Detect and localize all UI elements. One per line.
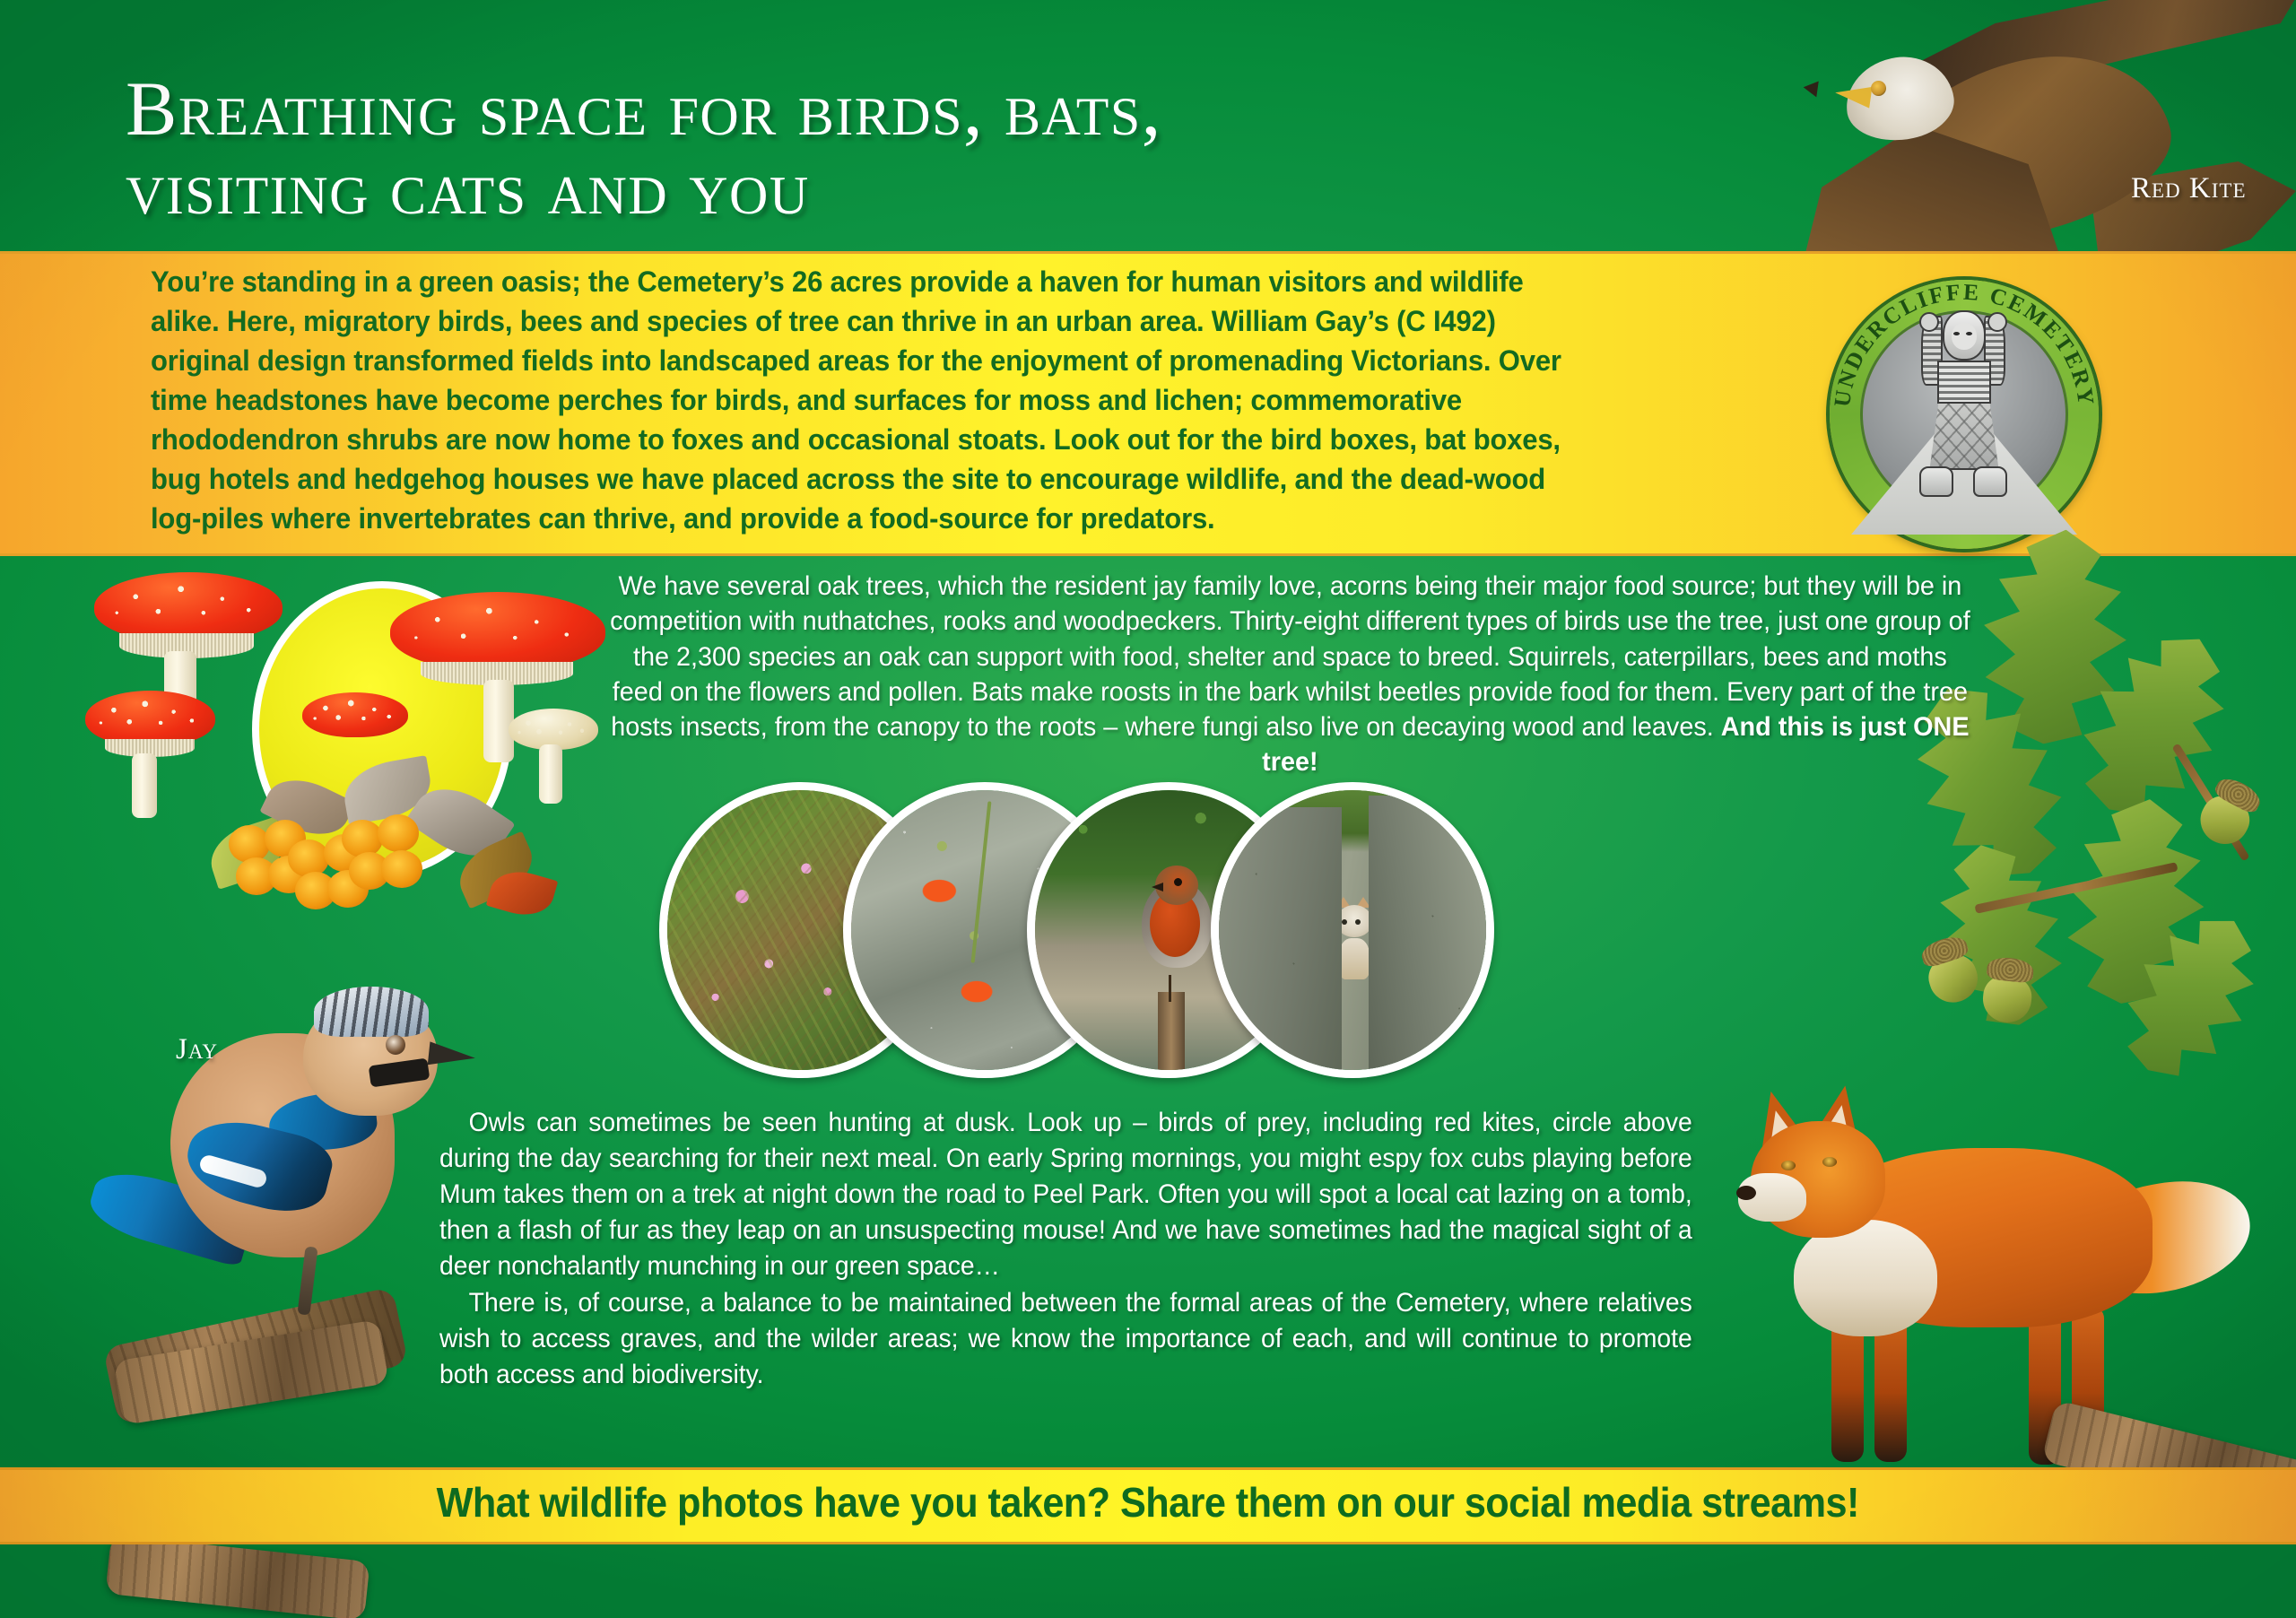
owls-paragraph-2: There is, of course, a balance to be mai… [439,1285,1692,1393]
title-line-2: visiting cats and you [126,149,1830,228]
oak-branch-illustration [1919,529,2296,1085]
fox-eye [1822,1157,1837,1167]
title-line-1: Breathing space for birds, bats, [126,65,1162,152]
fox-nose [1736,1186,1756,1200]
jay-illustration [90,951,484,1399]
red-kite-eye [1871,81,1886,96]
oak-tree-paragraph: We have several oak trees, which the res… [610,569,1970,780]
red-kite-beak [1834,82,1873,108]
jay-beak [428,1041,476,1069]
undercliffe-cemetery-logo: UNDERCLIFFE CEMETERY [1830,280,2099,549]
photo-gallery [659,782,1816,1078]
acorn-icon [1980,955,2035,1024]
page-title: Breathing space for birds, bats, visitin… [126,70,1830,227]
fly-agaric-fungi-illustration [94,556,632,933]
call-to-action-text: What wildlife photos have you taken? Sha… [0,1478,2296,1527]
jay-crown [314,987,429,1037]
logo-ring-label: UNDERCLIFFE CEMETERY [1829,279,2100,409]
red-kite-label: Red Kite [2131,172,2247,205]
intro-banner-text: You’re standing in a green oasis; the Ce… [151,262,1598,538]
owls-paragraph-1: Owls can sometimes be seen hunting at du… [439,1105,1692,1285]
autumn-flowers [229,787,435,913]
jay-label: Jay [176,1033,218,1066]
fox-eye [1781,1161,1796,1170]
mushroom-icon [85,691,215,816]
owls-paragraph: Owls can sometimes be seen hunting at du… [439,1105,1692,1393]
cat-gravestone-photo[interactable] [1211,782,1494,1078]
poster-root: Breathing space for birds, bats, visitin… [0,0,2296,1618]
log-pile-illustration [105,1535,370,1618]
jay-eye [386,1035,405,1055]
logo-ring-text: UNDERCLIFFE CEMETERY [1830,280,2099,549]
call-to-action-label: What wildlife photos have you taken? Sha… [437,1478,1859,1527]
